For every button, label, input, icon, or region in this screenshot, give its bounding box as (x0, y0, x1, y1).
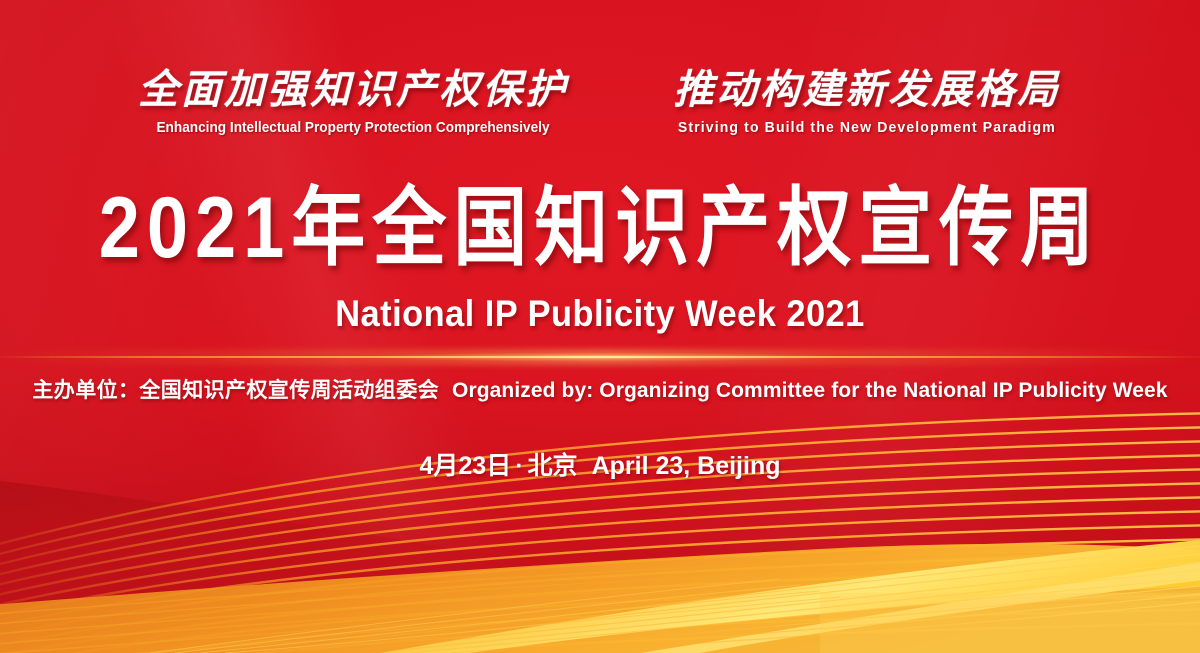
slogan-left-chinese: 全面加强知识产权保护 (138, 68, 568, 111)
slogan-right: 推动构建新发展格局 Striving to Build the New Deve… (672, 68, 1062, 136)
date-chinese: 4月23日 (420, 452, 512, 480)
city-chinese: 北京 (528, 452, 578, 480)
slogan-right-chinese: 推动构建新发展格局 (672, 68, 1062, 111)
slogan-right-english: Striving to Build the New Development Pa… (678, 120, 1056, 136)
datetime-separator: · (511, 452, 527, 480)
organizer-line: 主办单位：全国知识产权宣传周活动组委会Organized by: Organiz… (0, 374, 1200, 404)
slogan-left-english: Enhancing Intellectual Property Protecti… (151, 120, 555, 136)
main-title-chinese: 2021年全国知识产权宣传周 (0, 185, 1200, 271)
datetime-line: 4月23日·北京April 23, Beijing (0, 446, 1200, 482)
ip-publicity-week-poster: 全面加强知识产权保护 Enhancing Intellectual Proper… (0, 0, 1200, 653)
organizer-english: Organized by: Organizing Committee for t… (452, 379, 1168, 402)
slogan-left: 全面加强知识产权保护 Enhancing Intellectual Proper… (138, 68, 568, 136)
main-title-english: National IP Publicity Week 2021 (42, 293, 1158, 335)
datetime-english: April 23, Beijing (592, 452, 781, 480)
organizer-chinese: 主办单位：全国知识产权宣传周活动组委会 (32, 379, 439, 402)
slogan-row: 全面加强知识产权保护 Enhancing Intellectual Proper… (0, 68, 1200, 136)
